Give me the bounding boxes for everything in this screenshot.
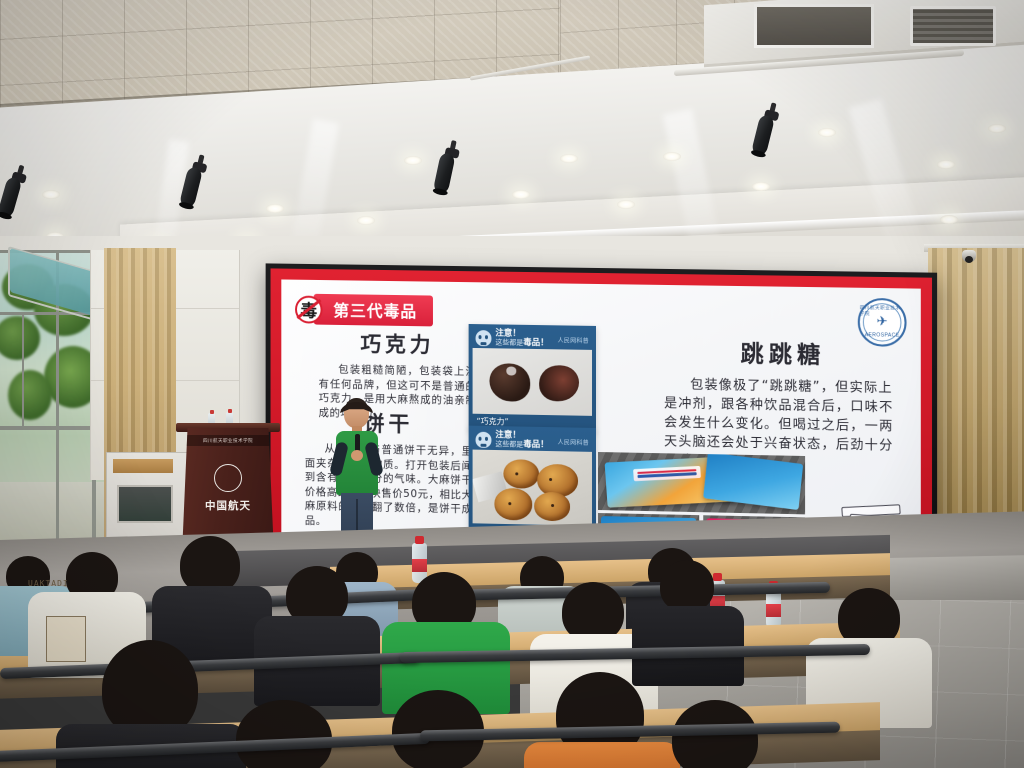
recessed-downlight-icon: [266, 204, 284, 213]
audience-head: [660, 560, 714, 612]
warning-card-header: 注意！ 这些都是毒品！ 人民网科普: [473, 328, 592, 350]
recessed-downlight-icon: [357, 216, 375, 225]
warning-subline-strong: 毒品！: [523, 338, 548, 348]
emblem-bird-icon: ✈: [869, 316, 895, 329]
recessed-downlight-icon: [404, 156, 422, 165]
slide-title: 第三代毒品: [314, 294, 433, 327]
recessed-downlight-icon: [560, 154, 578, 163]
section-heading-chocolate: 巧克力: [319, 328, 477, 360]
warning-card-chocolate: 注意！ 这些都是毒品！ 人民网科普 “巧克力”: [469, 324, 596, 433]
warning-subline-prefix: 这些都是: [495, 338, 523, 346]
recessed-downlight-icon: [988, 124, 1006, 133]
audience-head: [562, 582, 624, 642]
ceiling-ac-vent-icon: [754, 4, 874, 48]
warning-subline-prefix: 这些都是: [495, 440, 523, 449]
recessed-downlight-icon: [818, 128, 836, 137]
tshirt-print-text: UAKTADI: [28, 579, 68, 588]
lecture-hall-photo: 毒 第三代毒品 四川航天职业技术学院 ✈ AEROSPACE 巧克力 包装粗糙简…: [0, 0, 1024, 768]
section-heading-popping-candy: 跳跳糖: [664, 333, 902, 371]
warning-brand: 人民网科普: [558, 437, 589, 447]
recessed-downlight-icon: [940, 215, 958, 224]
warning-card-header: 注意！ 这些都是毒品！ 人民网科普: [473, 430, 592, 452]
tshirt-graphic: [46, 616, 86, 662]
aerospace-triangle-logo: [214, 464, 242, 492]
recessed-downlight-icon: [752, 182, 770, 191]
security-camera-icon: [962, 250, 976, 262]
recessed-downlight-icon: [617, 200, 635, 209]
ceiling-ac-louvre-icon: [910, 6, 996, 46]
recessed-downlight-icon: [42, 190, 60, 199]
warning-brand: 人民网科普: [558, 335, 589, 344]
recessed-downlight-icon: [663, 152, 681, 161]
skull-icon: [476, 330, 492, 346]
skull-icon: [476, 432, 492, 448]
warning-subline-strong: 毒品！: [523, 440, 548, 450]
audience-head: [236, 700, 332, 768]
cookie-drug-photo: [473, 450, 592, 526]
recessed-downlight-icon: [512, 190, 530, 199]
emblem-top-text: 四川航天职业技术学院: [860, 305, 905, 318]
chocolate-drug-photo: [473, 348, 592, 416]
audience-person-orange: [524, 742, 680, 768]
podium-brand-text: 中国航天: [182, 498, 274, 513]
no-drugs-prohibition-icon: 毒: [295, 295, 322, 323]
av-control-cabinet: [106, 452, 194, 548]
candy-packet-orange-blue: [598, 452, 805, 514]
podium-venue-name: 四川航天职业技术学院: [182, 435, 274, 446]
slide-title-row: 毒 第三代毒品: [295, 294, 433, 327]
presenter-speaker: [327, 398, 387, 548]
presenter-hand: [351, 450, 363, 461]
recessed-downlight-icon: [937, 160, 955, 169]
